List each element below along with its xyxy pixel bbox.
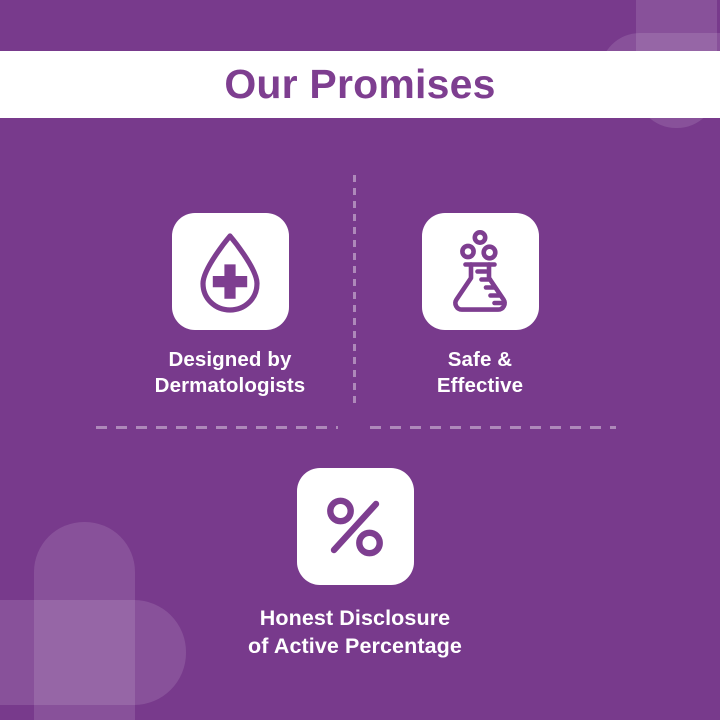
divider-horizontal-right: [370, 426, 616, 429]
promise-label: Safe & Effective: [437, 347, 523, 399]
icon-card: [422, 213, 539, 330]
promise-item-honest-disclosure: Honest Disclosure of Active Percentage: [235, 468, 475, 660]
cross-vertical-bar: [34, 522, 135, 720]
icon-card: [172, 213, 289, 330]
promise-item-safe-and-effective: Safe & Effective: [370, 213, 590, 399]
icon-card: [297, 468, 414, 585]
percent-icon: [316, 488, 394, 566]
divider-horizontal-left: [96, 426, 338, 429]
header-band: Our Promises: [0, 51, 720, 118]
promise-label: Honest Disclosure of Active Percentage: [248, 605, 462, 660]
promises-poster: Our Promises Designed by Dermatologists: [0, 0, 720, 720]
cross-bottom-left-decoration: [0, 522, 186, 720]
droplet-plus-icon: [187, 229, 273, 315]
divider-vertical: [353, 175, 356, 409]
page-title: Our Promises: [224, 64, 495, 105]
promise-item-designed-by-dermatologists: Designed by Dermatologists: [110, 213, 350, 399]
cross-horizontal-bar: [0, 600, 186, 705]
promise-label: Designed by Dermatologists: [155, 347, 306, 399]
flask-bubbles-icon: [437, 229, 523, 315]
